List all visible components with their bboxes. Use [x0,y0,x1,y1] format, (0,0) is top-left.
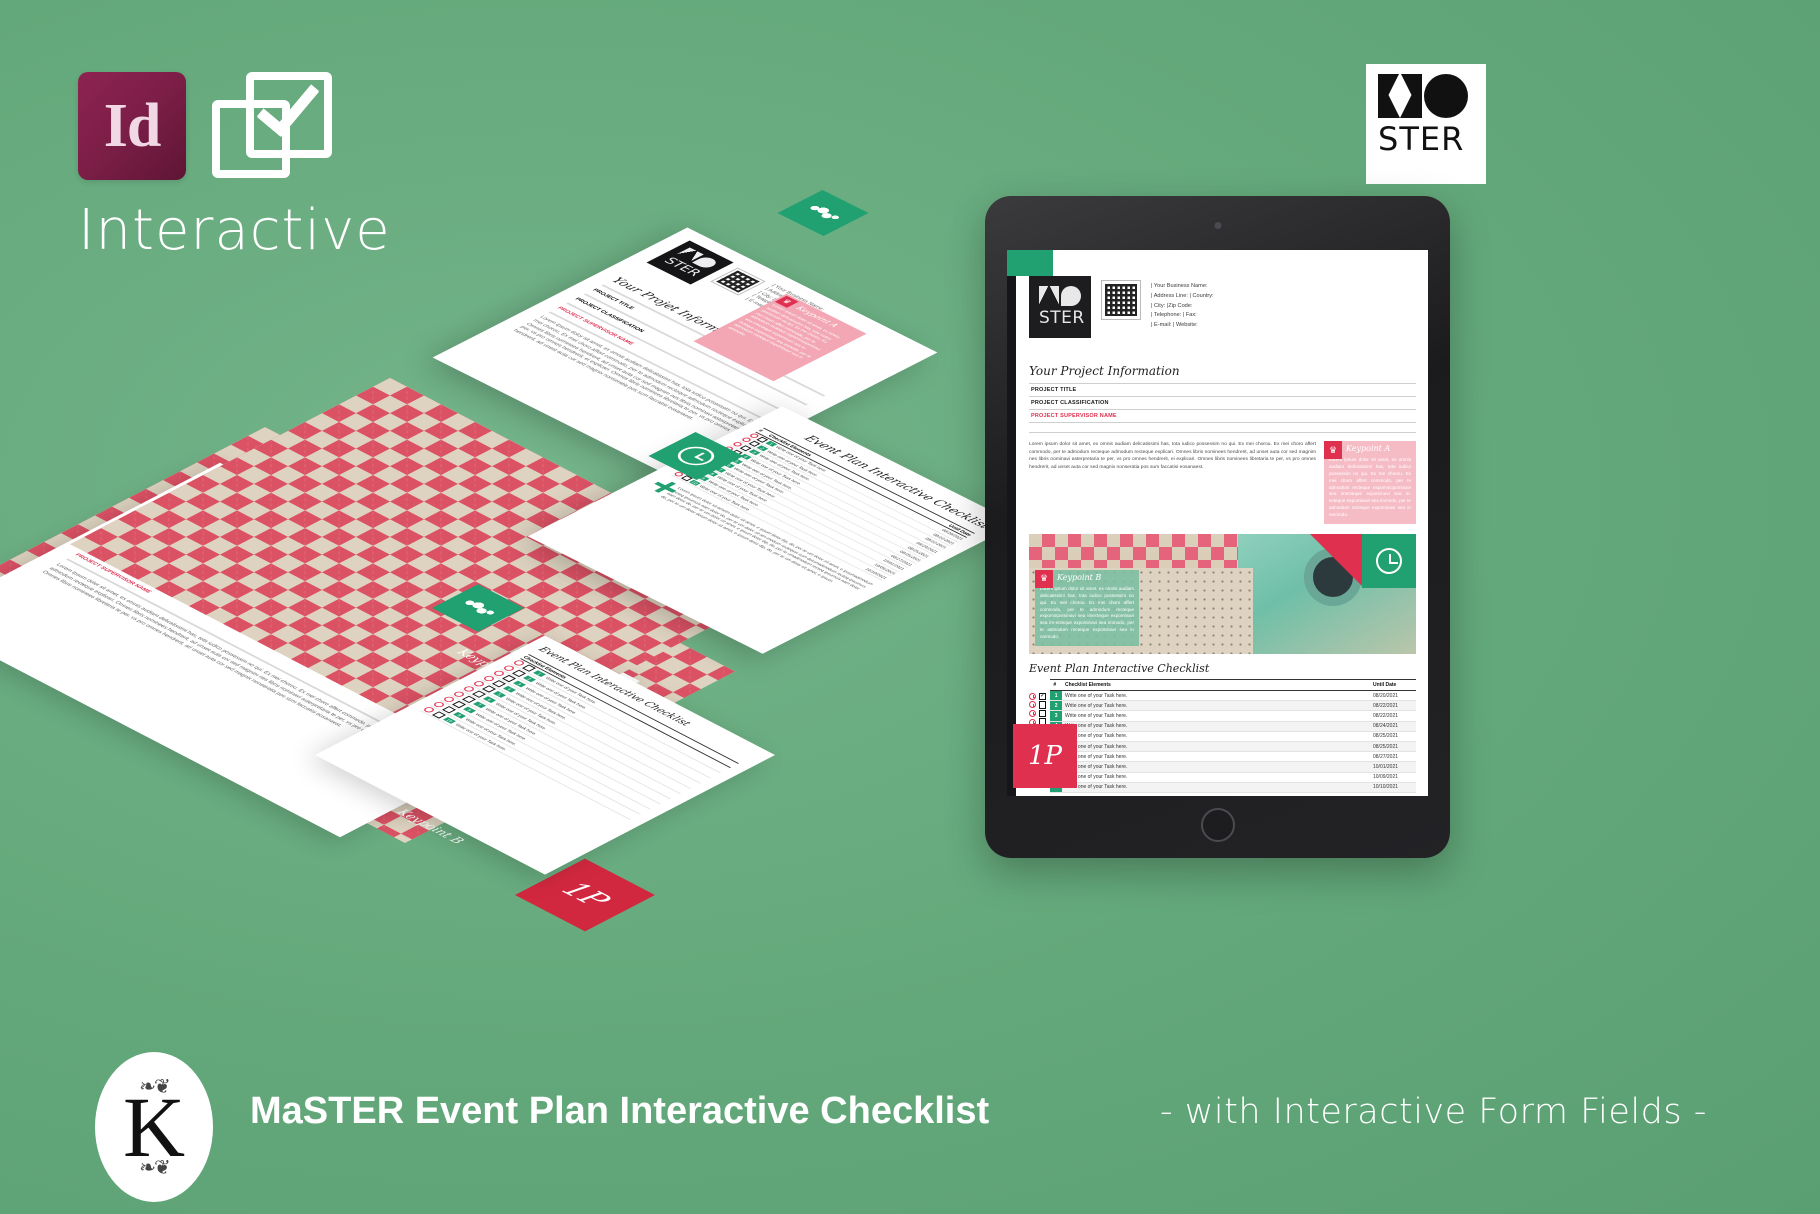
checklist-body: 1Write one of your Task here.08/20/20212… [1050,691,1416,793]
field-blank-row[interactable] [1029,422,1416,433]
master-logo-a-glyph [1424,74,1468,118]
trophy-icon: ♛ [1035,570,1053,588]
checklist-row[interactable]: 9Write one of your Task here.10/09/2021 [1050,772,1416,782]
checklist-row-task[interactable]: Write one of your Task here. [1062,741,1370,751]
checklist-row-date[interactable]: 08/25/2021 [1370,731,1416,741]
product-subtitle: - with Interactive Form Fields - [1160,1092,1707,1132]
checklist-row-number: 2 [1050,701,1062,711]
clock-glyph [1376,548,1402,574]
checklist-table: # Checklist Elements Until Date 1Write o… [1050,679,1416,793]
checklist-row-date[interactable]: 08/20/2021 [1370,691,1416,701]
checklist-col-number: # [1050,680,1062,691]
clock-icon [1029,693,1036,700]
checklist-title: Event Plan Interactive Checklist [1029,662,1416,675]
document-logo-ster: STER [1039,308,1085,328]
page-badge-text: 1P [1028,741,1062,771]
trophy-icon: ♛ [1324,441,1342,459]
iso-row-number: 10 [443,717,456,724]
document-logo-a-glyph [1061,286,1081,306]
tablet-home-button[interactable] [1201,808,1235,842]
checklist-row[interactable]: 4Write one of your Task here.08/24/2021 [1050,721,1416,731]
document-header: STER | Your Business Name: | Address Lin… [1029,276,1416,338]
checkbox[interactable] [1039,701,1046,708]
document-logo-m-glyph [1039,286,1059,306]
plus-icon [653,478,677,490]
checklist-row-date[interactable]: 08/27/2021 [1370,752,1416,762]
document-body-text: Lorem ipsum dolor sit amet, ex omnis aud… [1029,441,1316,524]
project-information-title: Your Project Information [1029,364,1416,378]
checklist-row[interactable]: 8Write one of your Task here.10/01/2021 [1050,762,1416,772]
keypoint-b-text: Lorem ipsum dolor sit amet, ex omnis aud… [1035,584,1139,646]
checklist-row[interactable]: 2Write one of your Task here.08/22/2021 [1050,701,1416,711]
checklist-col-date: Until Date [1370,680,1416,691]
indesign-logo: Id [78,72,186,180]
checklist-row-number: 3 [1050,711,1062,721]
contact-email: | E-mail: | Website: [1151,321,1214,331]
product-title: MaSTER Event Plan Interactive Checklist [250,1090,989,1133]
keypoint-b-panel: ♛ Keypoint B Lorem ipsum dolor sit amet,… [1035,570,1139,646]
checklist-row-task[interactable]: Write one of your Task here. [1062,772,1370,782]
checklist-row-date[interactable]: 10/10/2021 [1370,782,1416,792]
checklist-row-task[interactable]: Write one of your Task here. [1062,691,1370,701]
checklist-row[interactable]: 6Write one of your Task here.08/25/2021 [1050,741,1416,751]
checkbox[interactable] [1039,710,1046,717]
checklist-row[interactable]: 1Write one of your Task here.08/20/2021 [1050,691,1416,701]
checklist-row-date[interactable]: 10/01/2021 [1370,762,1416,772]
contact-address: | Address Line: | Country: [1151,292,1214,302]
checkbox-icon [212,72,336,184]
indesign-logo-text: Id [104,95,161,157]
checklist-row-number: 1 [1050,691,1062,701]
checklist-row-task[interactable]: Write one of your Task here. [1062,711,1370,721]
clock-icon [1029,710,1036,717]
ornament-top: ❧❦ [95,1074,213,1099]
checklist-row-date[interactable]: 08/24/2021 [1370,721,1416,731]
photo-band: ♛ Keypoint B Lorem ipsum dolor sit amet,… [1029,534,1416,654]
keypoint-a-panel: ♛ Keypoint A Lorem ipsum dolor sit amet,… [1324,441,1416,524]
document-master-logo: STER [1029,276,1091,338]
master-logo-ma [1378,74,1474,122]
master-logo-m-glyph [1378,74,1422,118]
checklist-row-task[interactable]: Write one of your Task here. [1062,701,1370,711]
contact-city: | City: |Zip Code: [1151,302,1214,312]
contact-business-name: | Your Business Name: [1151,282,1214,292]
checklist-check-row[interactable] [1029,701,1046,710]
clock-icon [422,706,436,713]
globe-glyph [454,596,502,621]
red-wedge-shape [1310,534,1362,586]
k-logo-badge: ❧❦ K ❧❦ [95,1052,213,1202]
checklist-area: ✓ # Checklist Elements Until Date 1Write… [1029,679,1416,793]
checklist-check-row[interactable]: ✓ [1029,692,1046,701]
clock-glyph [670,443,721,469]
checklist-row-task[interactable]: Write one of your Task here. [1062,731,1370,741]
checklist-row[interactable]: 3Write one of your Task here.08/22/2021 [1050,711,1416,721]
page-badge: 1P [1013,724,1077,788]
keypoint-a-text: Lorem ipsum dolor sit amet, ex omnis aud… [1324,455,1416,524]
checklist-row[interactable]: 7Write one of your Task here.08/27/2021 [1050,752,1416,762]
checklist-row[interactable]: 5Write one of your Task here.08/25/2021 [1050,731,1416,741]
checkbox[interactable]: ✓ [1039,693,1046,700]
checklist-header-row: # Checklist Elements Until Date [1050,680,1416,691]
master-logo-ster: STER [1378,122,1474,157]
qr-pattern [1105,284,1137,316]
checklist-check-row[interactable] [1029,709,1046,718]
checklist-row-date[interactable]: 08/22/2021 [1370,701,1416,711]
tablet-screen[interactable]: STER | Your Business Name: | Address Lin… [1007,250,1428,796]
contact-block: | Your Business Name: | Address Line: | … [1151,282,1214,331]
field-project-title[interactable]: PROJECT TITLE [1029,383,1416,397]
ornament-bottom: ❧❦ [95,1155,213,1180]
checklist-row-task[interactable]: Write one of your Task here. [1062,721,1370,731]
checklist-row-task[interactable]: Write one of your Task here. [1062,762,1370,772]
clock-icon [1029,701,1036,708]
document-page: STER | Your Business Name: | Address Lin… [1007,250,1428,796]
tablet-device: STER | Your Business Name: | Address Lin… [985,196,1450,858]
checklist-row-date[interactable]: 08/22/2021 [1370,711,1416,721]
field-project-classification[interactable]: PROJECT CLASSIFICATION [1029,396,1416,410]
checklist-row[interactable]: 10Write one of your Task here.10/10/2021 [1050,782,1416,792]
checklist-row-task[interactable]: Write one of your Task here. [1062,752,1370,762]
contact-telephone: | Telephone: | Fax: [1151,311,1214,321]
tablet-camera [1214,222,1221,229]
document-left-bar [1007,250,1016,796]
field-project-supervisor[interactable]: PROJECT SUPERVISOR NAME [1029,409,1416,423]
checkbox [432,711,446,718]
globe-glyph [799,201,847,225]
body-and-keypoint-a: Lorem ipsum dolor sit amet, ex omnis aud… [1029,441,1416,524]
qr-code-icon [1101,280,1141,320]
checklist-row-date[interactable]: 08/25/2021 [1370,741,1416,751]
master-logo: STER [1366,64,1486,184]
checklist-row-task[interactable]: Write one of your Task here. [1062,782,1370,792]
checklist-row-date[interactable]: 10/09/2021 [1370,772,1416,782]
iso-page-badge-text: 1P [553,878,617,911]
float-qr-code [710,268,765,296]
checklist-col-elements: Checklist Elements [1062,680,1370,691]
clock-icon-tile [1362,534,1416,588]
